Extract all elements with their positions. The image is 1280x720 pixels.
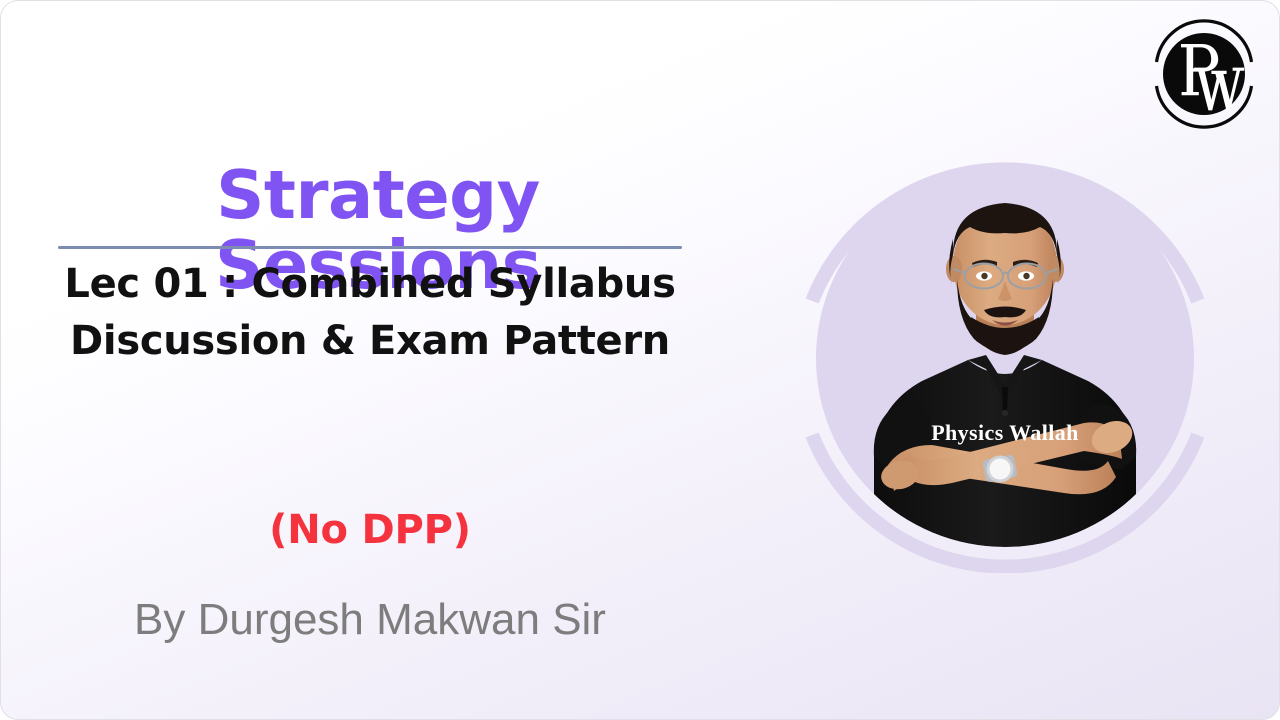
no-dpp-note: (No DPP) [58, 507, 682, 553]
lecture-subtitle: Lec 01 : Combined Syllabus Discussion & … [58, 256, 682, 370]
instructor-figure: Physics Wallah [816, 169, 1194, 547]
presentation-slide: Physics Wallah Strategy Sessions Lec 01 … [0, 0, 1280, 720]
instructor-byline: By Durgesh Makwan Sir [58, 595, 682, 645]
subtitle-line-1: Lec 01 : Combined Syllabus [58, 256, 682, 313]
title-divider [58, 246, 682, 249]
instructor-portrait-zone: Physics Wallah [790, 143, 1220, 573]
pw-logo [1148, 18, 1260, 130]
portrait-disc: Physics Wallah [816, 169, 1194, 547]
shirt-logo-text: Physics Wallah [931, 420, 1079, 445]
subtitle-line-2: Discussion & Exam Pattern [58, 313, 682, 370]
